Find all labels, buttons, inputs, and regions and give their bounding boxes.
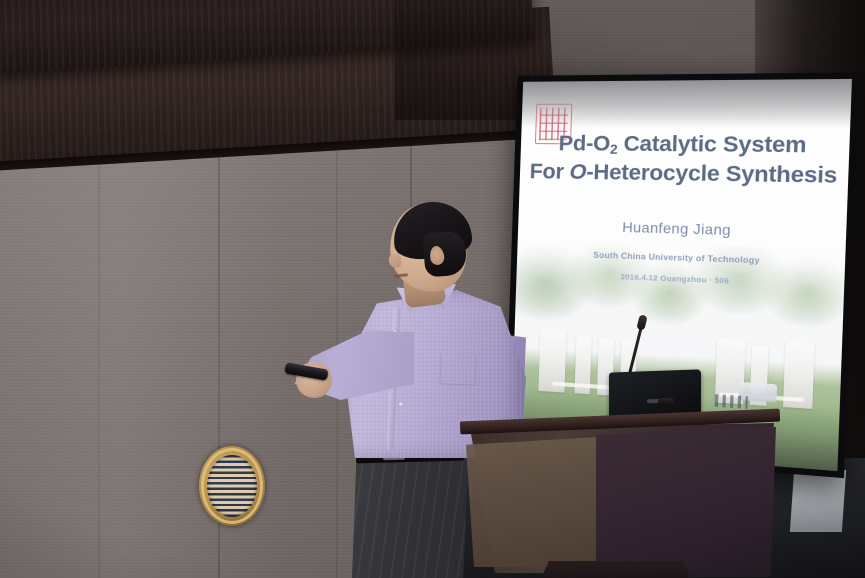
- podium-front-right-panel: [596, 427, 776, 577]
- podium-emblem-icon: [199, 446, 265, 526]
- podium-front-left-panel: [466, 437, 598, 567]
- presentation-photo-scene: Pd-O2 Catalytic System For O-Heterocycle…: [0, 0, 865, 578]
- speaker-trousers: [352, 452, 468, 578]
- podium-emblem-ring: [201, 448, 263, 524]
- lectern-podium: [456, 409, 786, 578]
- shirt-button: [399, 402, 403, 406]
- trouser-fold-texture: [352, 452, 468, 578]
- shirt-pocket: [439, 353, 476, 385]
- podium-base: [536, 561, 696, 578]
- speaker-nose: [388, 253, 402, 269]
